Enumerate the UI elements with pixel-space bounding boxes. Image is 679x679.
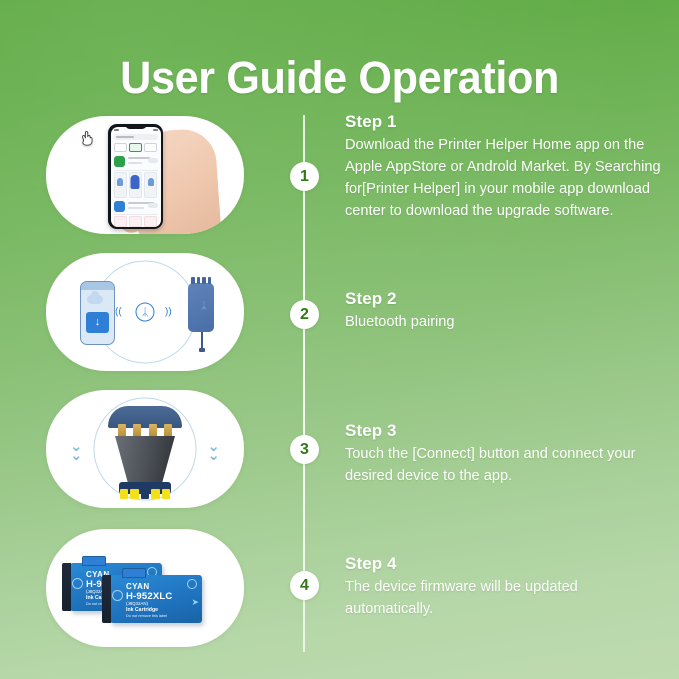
appstore-filter-chips[interactable] [114,143,158,152]
download-folder-icon [86,312,109,333]
filter-chip[interactable] [144,143,157,152]
cartridge-port-icon [112,590,123,601]
media-card-step-1 [46,116,244,234]
step-3-heading: Step 3 [345,421,663,441]
step-1-body: Download the Printer Helper Home app on … [345,135,663,223]
step-block-2: Step 2 Bluetooth pairing [345,289,663,334]
step-4-heading: Step 4 [345,554,663,574]
cartridge-type: Ink Cartridge [126,607,158,613]
media-card-step-4: CYAN H-952XLC (J8Q32AN) Ink Cartridge Do… [46,529,244,647]
ink-cartridge: CYAN H-952XLC (J8Q32AN) Ink Cartridge Do… [110,575,202,623]
phone-notch [125,124,147,129]
step-badge-2: 2 [290,300,319,329]
cartridge-color-label: CYAN [126,582,150,591]
phone-screen [111,127,161,227]
step-badge-1: 1 [290,162,319,191]
app-screenshot-strip-secondary [114,216,158,227]
bluetooth-icon: ᛦ [136,303,155,322]
step-4-body: The device firmware will be updated auto… [345,577,663,621]
app-screenshot [114,172,127,198]
filter-chip-selected[interactable] [129,143,142,152]
appstore-search-bar[interactable] [114,134,158,140]
app-screenshot [129,172,142,198]
app-icon [114,201,125,212]
app-screenshot [114,216,127,227]
page-title: User Guide Operation [120,52,559,104]
step-block-3: Step 3 Touch the [Connect] button and co… [345,421,663,488]
app-icon [114,156,125,167]
illustration-ink-cartridges: CYAN H-952XLC (J8Q32AN) Ink Cartridge Do… [46,529,244,647]
illustration-bluetooth-pairing: (( ᛦ )) ᛦ [46,253,244,371]
app-name-line [128,157,150,159]
status-battery [153,129,158,131]
app-result-row-primary[interactable] [114,155,158,171]
dongle-bluetooth-icon: ᛦ [201,301,207,312]
app-result-row-secondary[interactable] [114,200,158,215]
illustration-hand-holding-phone [46,116,244,234]
signal-wave-right-icon: )) [165,307,172,318]
tap-cursor-icon [79,130,93,147]
app-screenshot [144,172,157,198]
user-guide-poster: User Guide Operation [0,0,679,679]
app-screenshot [144,216,157,227]
step-badge-4: 4 [290,571,319,600]
chevron-down-icon: ⌄⌄ [207,442,220,460]
status-time [114,129,119,131]
app-get-button[interactable] [148,203,158,208]
cartridge-cap [82,556,106,566]
brand-logo-icon [187,579,197,589]
step-block-4: Step 4 The device firmware will be updat… [345,554,663,621]
cartridge-cap [122,568,146,578]
filter-chip[interactable] [114,143,127,152]
step-2-heading: Step 2 [345,289,663,309]
media-card-step-2: (( ᛦ )) ᛦ [46,253,244,371]
step-badge-3: 3 [290,435,319,464]
cartridge-side-panel [62,563,71,611]
cartridge-side-panel [102,575,111,623]
phone-device-small [80,281,115,345]
step-block-1: Step 1 Download the Printer Helper Home … [345,112,663,223]
step-2-body: Bluetooth pairing [345,312,663,334]
app-screenshot [129,216,142,227]
step-1-heading: Step 1 [345,112,663,132]
app-subtitle-line [128,207,144,209]
dongle-pins [191,277,211,284]
media-card-step-3: ⌄⌄ ⌄⌄ [46,390,244,508]
dongle-cable [201,332,203,350]
app-screenshot-strip [114,172,158,198]
cartridge-warning: Do not remove this label [126,614,167,618]
tool-contact-pads [120,489,170,499]
cartridge-arrow-icon: ➤ [191,597,199,608]
phone-header-bar [81,282,114,290]
step-3-body: Touch the [Connect] button and connect y… [345,444,663,488]
cartridge-port-icon [72,578,83,589]
app-get-button[interactable] [148,158,158,163]
chevron-down-icon: ⌄⌄ [70,442,83,460]
bluetooth-dongle-device: ᛦ [188,283,214,332]
cloud-icon [87,295,103,304]
illustration-chip-resetter: ⌄⌄ ⌄⌄ [46,390,244,508]
signal-wave-left-icon: (( [115,307,122,318]
app-subtitle-line [128,162,142,164]
phone-device [108,124,163,229]
cartridge-sku: (J8Q32AN) [126,601,148,606]
